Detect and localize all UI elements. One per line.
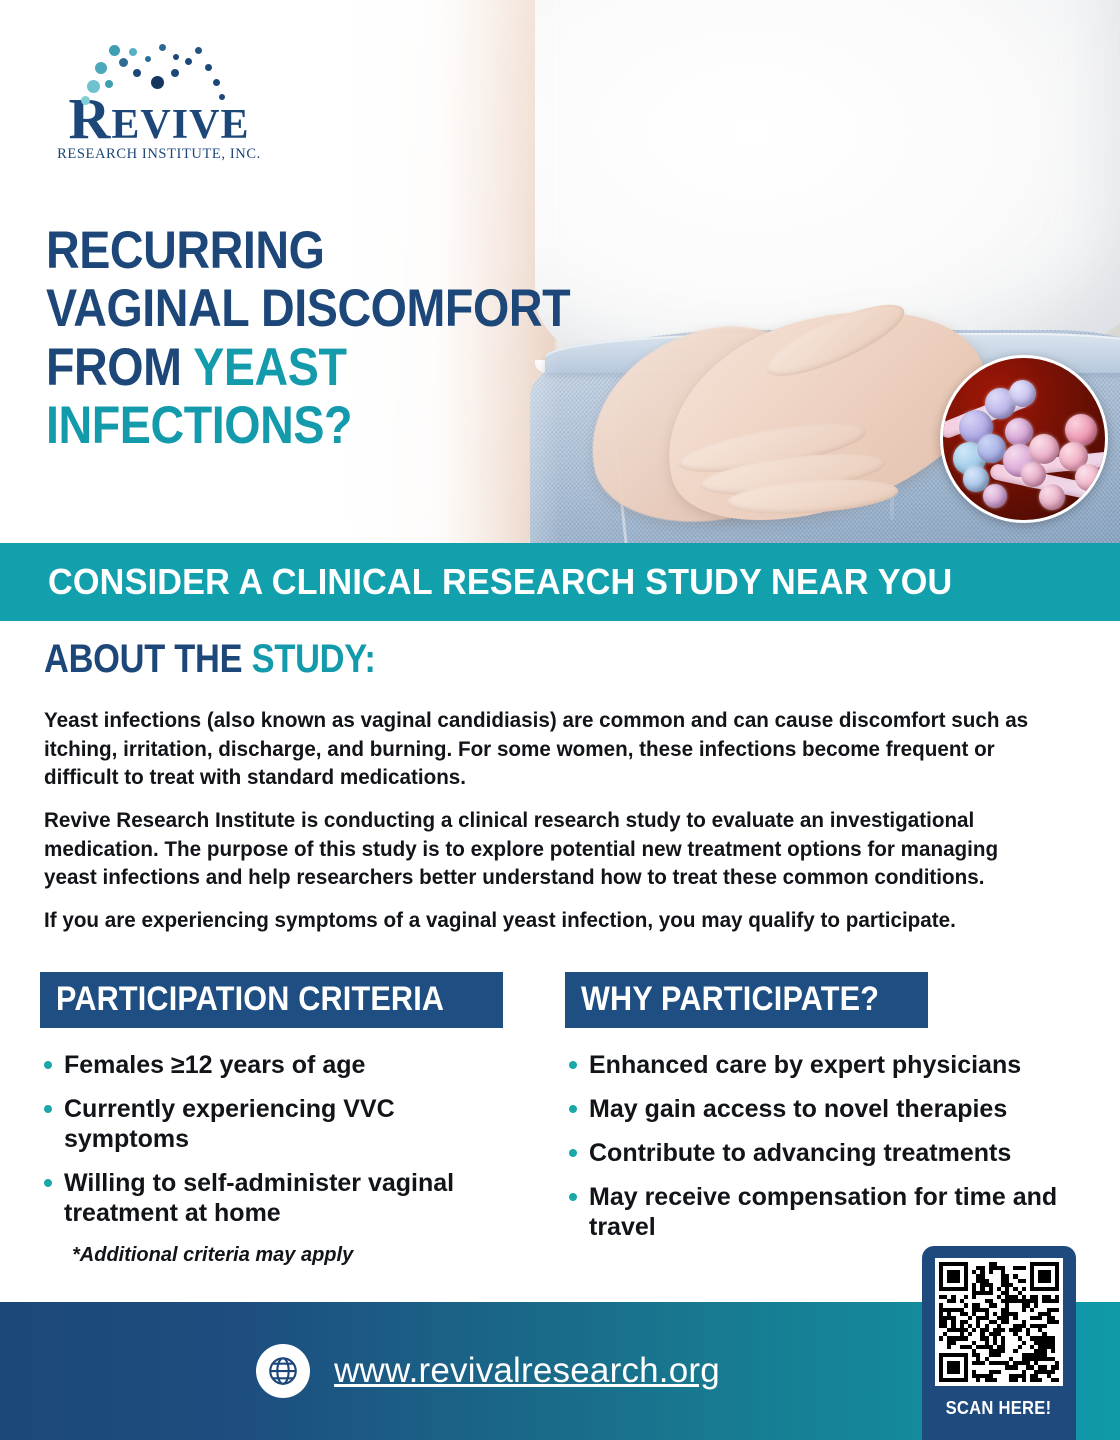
website-link[interactable]: www.revivalresearch.org: [334, 1351, 720, 1391]
headline-line-2: VAGINAL DISCOMFORT: [46, 280, 504, 338]
qr-code-image[interactable]: [935, 1258, 1063, 1386]
candida-microscopy-icon: [940, 355, 1108, 523]
footer-content: www.revivalresearch.org: [256, 1344, 720, 1398]
why-participate-list: Enhanced care by expert physicians May g…: [565, 1050, 1075, 1242]
headline-line-1: RECURRING: [46, 222, 504, 280]
about-heading-navy: ABOUT THE: [44, 637, 252, 681]
list-item: May receive compensation for time and tr…: [565, 1182, 1075, 1242]
participation-criteria-title: PARTICIPATION CRITERIA: [40, 972, 503, 1028]
qr-code-matrix: [939, 1262, 1059, 1382]
qr-code-card[interactable]: SCAN HERE!: [922, 1246, 1076, 1440]
globe-icon: [256, 1344, 310, 1398]
about-heading-teal: STUDY:: [252, 637, 376, 681]
participation-criteria-list: Females ≥12 years of age Currently exper…: [40, 1050, 510, 1228]
logo-radiating-dots-icon: [59, 42, 259, 104]
about-paragraph-1: Yeast infections (also known as vaginal …: [44, 706, 1039, 792]
qr-scan-label: SCAN HERE!: [946, 1398, 1052, 1419]
about-paragraph-2: Revive Research Institute is conducting …: [44, 806, 1039, 892]
why-participate-title: WHY PARTICIPATE?: [565, 972, 928, 1028]
list-item: Females ≥12 years of age: [40, 1050, 510, 1080]
about-section-heading: ABOUT THE STUDY:: [44, 637, 376, 682]
page-title: RECURRING VAGINAL DISCOMFORT FROM YEAST …: [46, 222, 504, 455]
list-item: Contribute to advancing treatments: [565, 1138, 1075, 1168]
criteria-footnote: *Additional criteria may apply: [72, 1244, 510, 1267]
participation-criteria-section: PARTICIPATION CRITERIA Females ≥12 years…: [40, 972, 510, 1267]
participation-criteria-title-text: PARTICIPATION CRITERIA: [56, 980, 444, 1019]
why-participate-title-text: WHY PARTICIPATE?: [581, 980, 879, 1019]
headline-line-4: INFECTIONS?: [46, 397, 504, 455]
list-item: Willing to self-administer vaginal treat…: [40, 1168, 510, 1228]
about-paragraph-3: If you are experiencing symptoms of a va…: [44, 906, 1039, 935]
headline-line-3-teal: YEAST: [193, 338, 346, 397]
list-item: Enhanced care by expert physicians: [565, 1050, 1075, 1080]
cta-banner-text: CONSIDER A CLINICAL RESEARCH STUDY NEAR …: [48, 561, 952, 603]
flyer-page: RREVIVEEVIVE RESEARCH INSTITUTE, INC. RE…: [0, 0, 1120, 1440]
list-item: Currently experiencing VVC symptoms: [40, 1094, 510, 1154]
logo-subtitle: RESEARCH INSTITUTE, INC.: [44, 146, 274, 163]
cta-banner: CONSIDER A CLINICAL RESEARCH STUDY NEAR …: [0, 543, 1120, 621]
brand-logo: RREVIVEEVIVE RESEARCH INSTITUTE, INC.: [44, 42, 274, 163]
list-item: May gain access to novel therapies: [565, 1094, 1075, 1124]
why-participate-section: WHY PARTICIPATE? Enhanced care by expert…: [565, 972, 1075, 1256]
headline-line-3-navy: FROM: [46, 338, 193, 397]
